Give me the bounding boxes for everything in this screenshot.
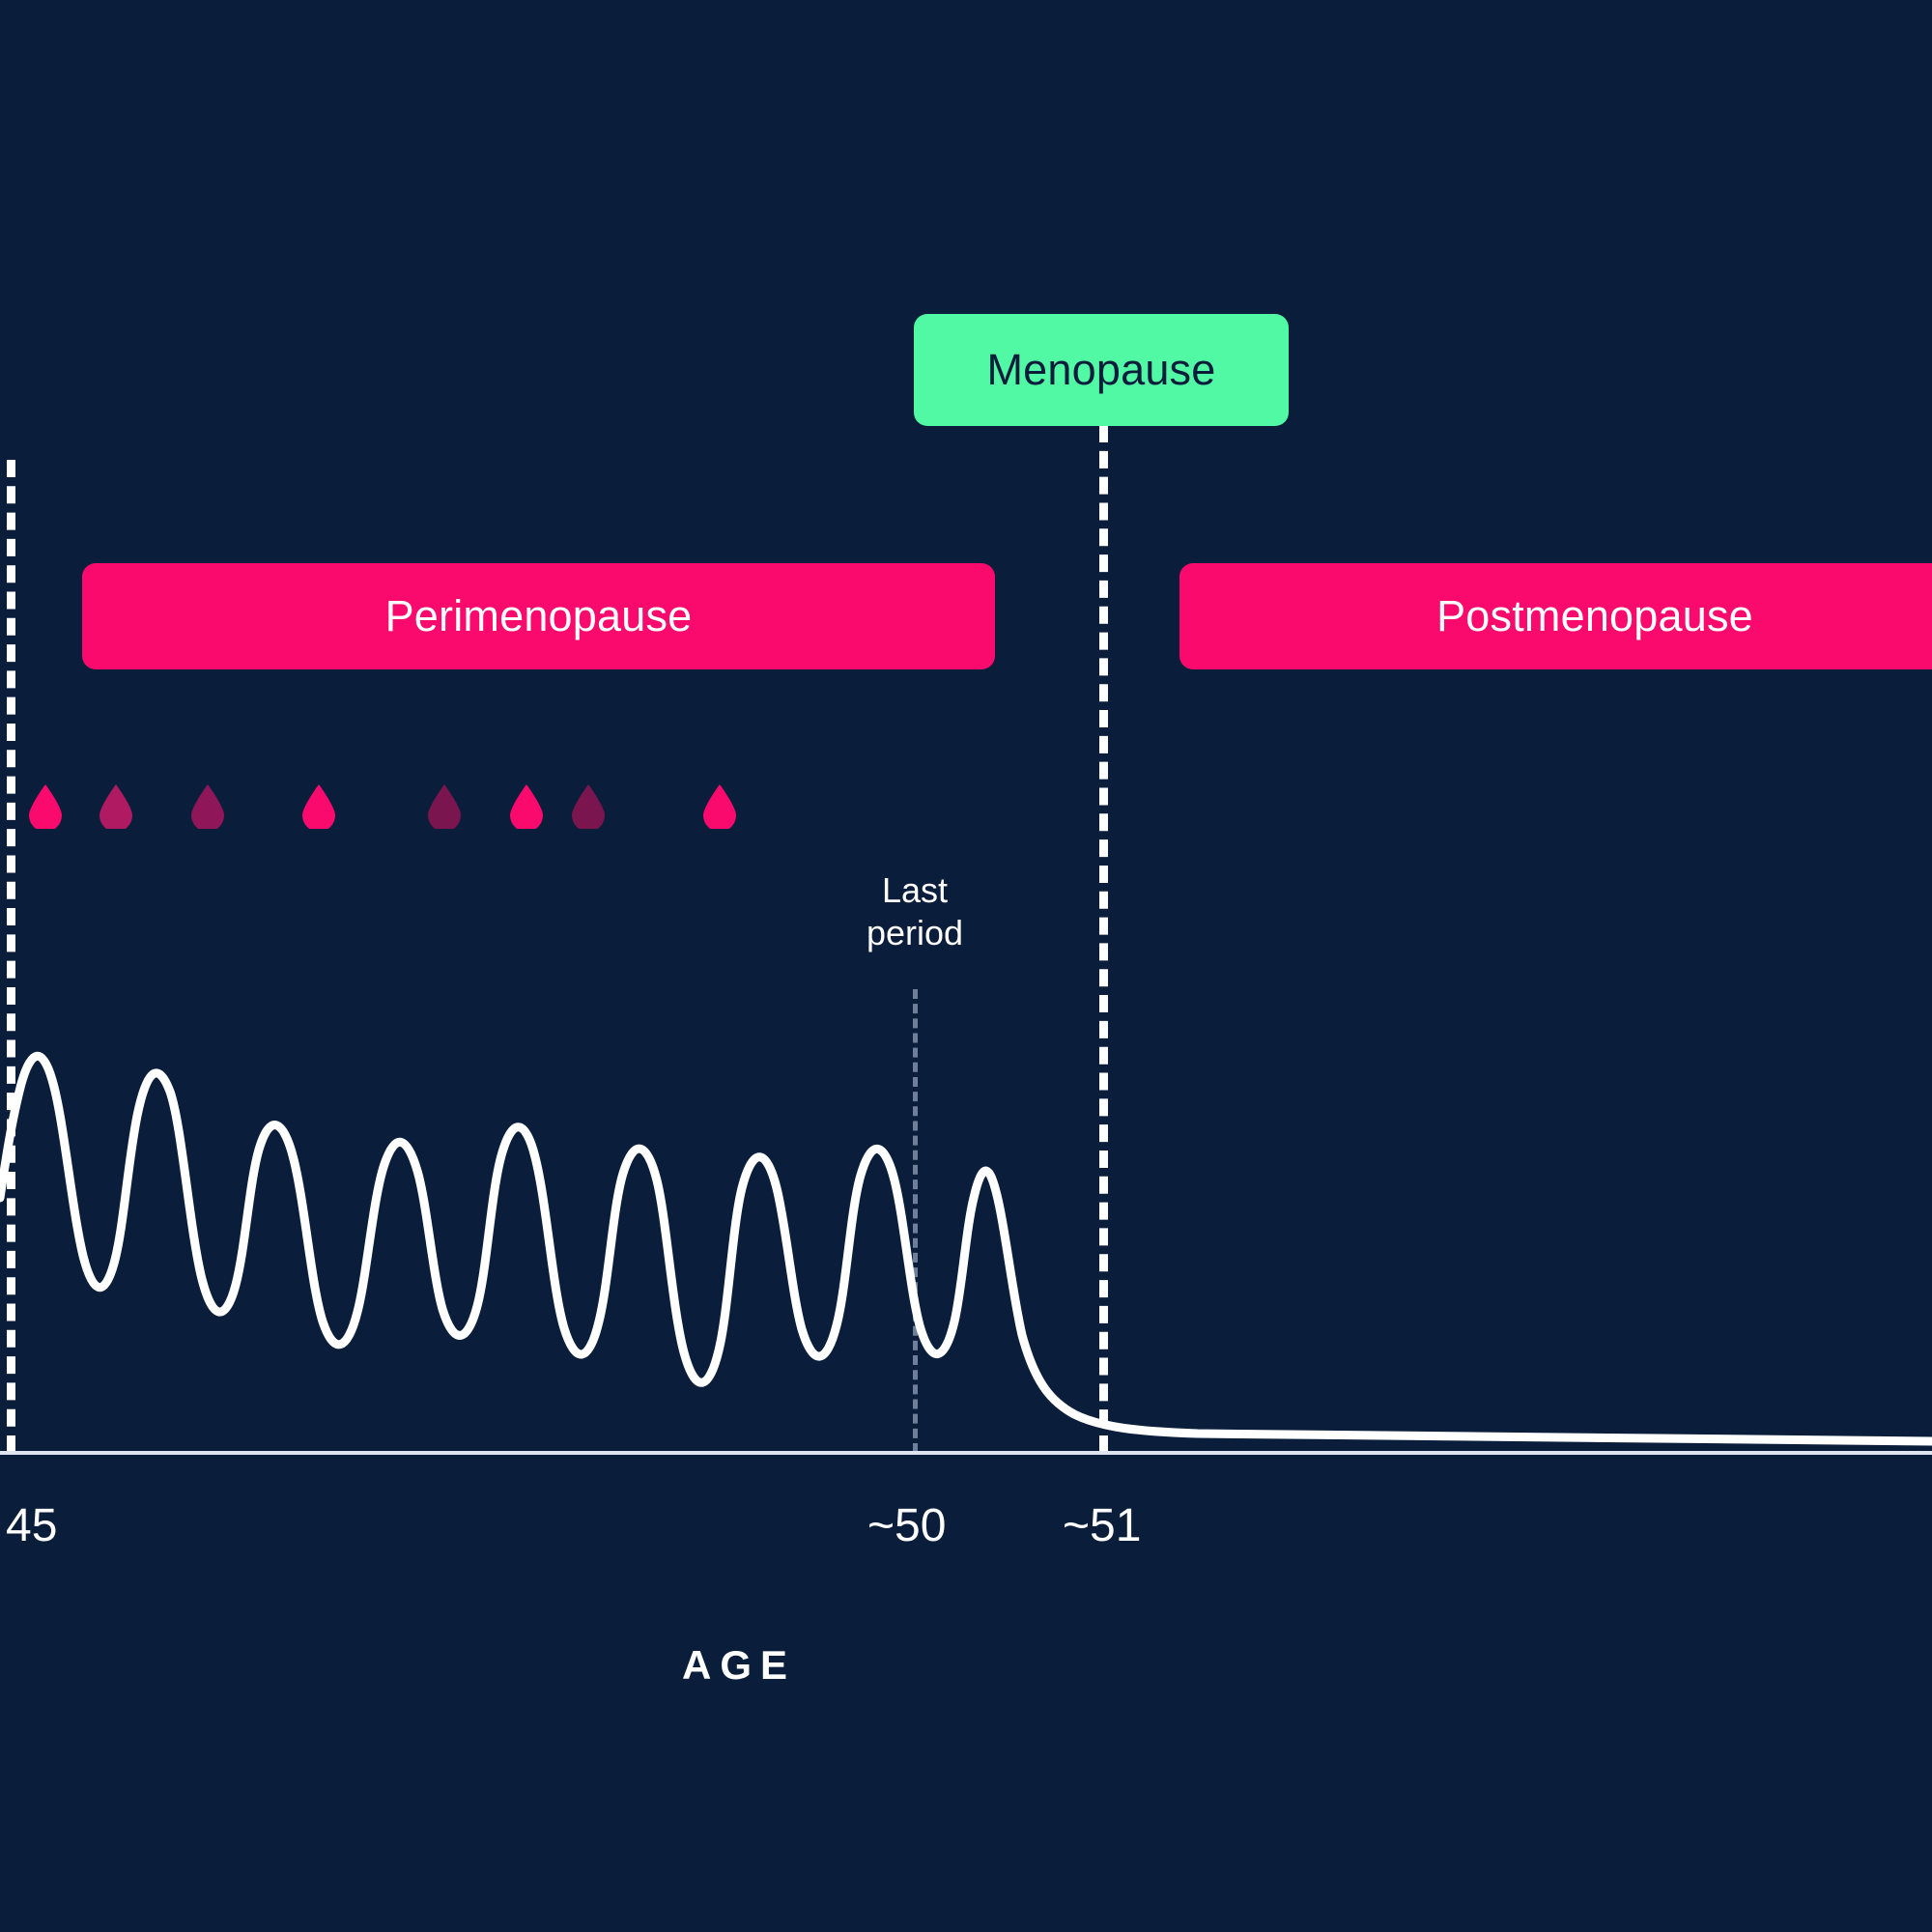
- postmenopause-bar: Postmenopause: [1179, 563, 1932, 669]
- period-drop-icon: [703, 784, 736, 829]
- menopause-timeline-infographic: Menopause Perimenopause Postmenopause La…: [0, 0, 1932, 1932]
- x-tick-45: 45: [6, 1499, 57, 1552]
- perimenopause-bar: Perimenopause: [82, 563, 995, 669]
- menopause-badge: Menopause: [914, 314, 1289, 426]
- x-tick-51: ~51: [1063, 1499, 1141, 1552]
- period-drop-icon: [29, 784, 62, 829]
- period-drop-icon: [572, 784, 605, 829]
- period-drop-icon: [510, 784, 543, 829]
- x-axis-line: [0, 1451, 1932, 1455]
- x-tick-50: ~50: [867, 1499, 946, 1552]
- last-period-line-2: period: [833, 912, 997, 954]
- estrogen-curve-chart: [0, 985, 1932, 1459]
- last-period-label: Last period: [833, 869, 997, 954]
- x-axis-title: AGE: [0, 1642, 1478, 1689]
- period-drop-icon: [191, 784, 224, 829]
- period-drop-icon: [302, 784, 335, 829]
- period-drop-icon: [99, 784, 132, 829]
- estrogen-curve-line: [0, 1056, 1932, 1441]
- period-drop-icon: [428, 784, 461, 829]
- last-period-line-1: Last: [833, 869, 997, 912]
